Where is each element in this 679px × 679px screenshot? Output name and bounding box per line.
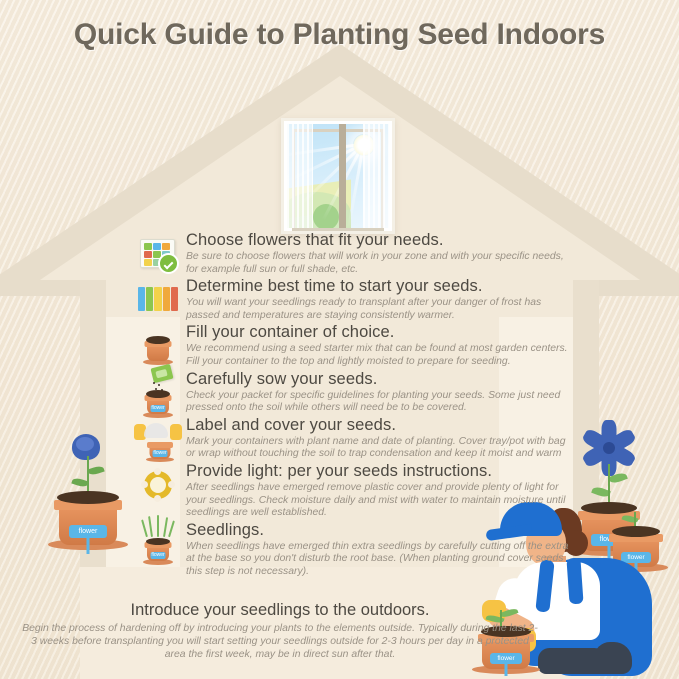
seed-catalog-icon bbox=[136, 233, 180, 277]
sun-icon bbox=[353, 134, 375, 156]
seed-packet-icon bbox=[150, 363, 173, 382]
window-grass-hill bbox=[287, 192, 351, 228]
step-body: We recommend using a seed starter mix th… bbox=[186, 343, 576, 368]
pot-body bbox=[59, 507, 117, 545]
step-body: Mark your containers with plant name and… bbox=[186, 436, 576, 461]
sun-ray-icon bbox=[322, 143, 365, 220]
sun-ray-icon bbox=[287, 143, 364, 158]
seedling-sprout bbox=[634, 512, 636, 530]
pot-body bbox=[582, 517, 636, 551]
potted-blue-flower-left: flower bbox=[42, 418, 134, 550]
window-frame bbox=[292, 129, 384, 231]
flower-bloom-icon bbox=[581, 424, 637, 472]
gloves-covered-pot-icon: flower bbox=[134, 418, 182, 462]
step-heading: Label and cover your seeds. bbox=[186, 416, 576, 435]
outro-body: Begin the process of hardening off by in… bbox=[20, 622, 540, 661]
check-badge-icon bbox=[158, 253, 179, 274]
pot-soil bbox=[581, 502, 637, 514]
step-heading: Fill your container of choice. bbox=[186, 323, 576, 342]
stem bbox=[87, 456, 89, 498]
step-item: flower Label and cover your seeds. Mark … bbox=[136, 416, 576, 461]
pot-soil bbox=[612, 526, 660, 537]
step-heading: Seedlings. bbox=[186, 521, 576, 540]
leaf-icon bbox=[71, 477, 88, 489]
window-field bbox=[287, 180, 351, 219]
step-heading: Choose flowers that fit your needs. bbox=[186, 231, 576, 250]
pot-rim bbox=[54, 500, 122, 510]
pot-saucer bbox=[472, 665, 540, 674]
leaf-icon bbox=[621, 514, 638, 525]
outro-section: Introduce your seedlings to the outdoors… bbox=[20, 600, 540, 661]
pot-soil bbox=[57, 491, 119, 504]
sun-ray-icon bbox=[287, 143, 364, 183]
leaf-icon bbox=[591, 485, 611, 499]
stem bbox=[608, 464, 610, 508]
step-body: Be sure to choose flowers that will work… bbox=[186, 251, 576, 276]
leaf-icon bbox=[608, 471, 628, 485]
plant-label-tag: flower bbox=[153, 450, 168, 457]
plant-label-tag: flower bbox=[151, 552, 166, 559]
page-title: Quick Guide to Planting Seed Indoors bbox=[0, 18, 679, 52]
curtain-right bbox=[363, 124, 389, 228]
light-ring-icon bbox=[136, 464, 180, 508]
wall-shadow-right bbox=[573, 280, 599, 679]
seedling-blades-icon bbox=[144, 515, 172, 537]
window-mullion bbox=[339, 124, 346, 228]
plant-label-tag: flower bbox=[621, 552, 651, 563]
step-body: After seedlings have emerged remove plas… bbox=[186, 482, 576, 520]
background-seedling-pot: flower bbox=[598, 508, 674, 572]
outro-heading: Introduce your seedlings to the outdoors… bbox=[20, 600, 540, 620]
pot-saucer bbox=[604, 563, 668, 572]
step-heading: Carefully sow your seeds. bbox=[186, 370, 576, 389]
step-heading: Provide light: per your seeds instructio… bbox=[186, 462, 576, 481]
steps-list: Choose flowers that fit your needs. Be s… bbox=[136, 231, 576, 580]
infographic-poster: Quick Guide to Planting Seed Indoors flo… bbox=[0, 0, 679, 679]
pot-rim bbox=[578, 511, 640, 520]
plant-label-tag: flower bbox=[151, 405, 166, 412]
pot-saucer bbox=[573, 546, 645, 556]
seedling-pot-icon: flower bbox=[136, 515, 180, 565]
leaf-icon bbox=[87, 465, 104, 477]
step-body: Check your packet for specific guideline… bbox=[186, 390, 576, 415]
gardener-boot bbox=[594, 642, 632, 674]
calendar-icon bbox=[136, 279, 180, 323]
sun-ray-icon bbox=[347, 144, 365, 228]
step-heading: Determine best time to start your seeds. bbox=[186, 277, 576, 296]
step-body: You will want your seedlings ready to tr… bbox=[186, 297, 576, 322]
step-body: When seedlings have emerged thin extra s… bbox=[186, 541, 576, 579]
step-item: Determine best time to start your seeds.… bbox=[136, 277, 576, 322]
flower-bloom-icon bbox=[72, 434, 100, 460]
curtain-left bbox=[287, 124, 313, 228]
pot-saucer bbox=[48, 539, 128, 550]
step-item: Fill your container of choice. We recomm… bbox=[136, 323, 576, 368]
sunny-window-illustration bbox=[281, 118, 395, 234]
gardener-boot bbox=[538, 648, 612, 674]
step-item: flower Seedlings. When seedlings have em… bbox=[136, 521, 576, 579]
filled-pot-icon bbox=[136, 325, 180, 369]
step-item: Provide light: per your seeds instructio… bbox=[136, 462, 576, 520]
pot-rim bbox=[609, 534, 663, 542]
window-sky bbox=[287, 124, 389, 228]
seed-packet-sowing-icon: flower bbox=[136, 366, 180, 418]
pot-body bbox=[613, 539, 659, 567]
step-item: Choose flowers that fit your needs. Be s… bbox=[136, 231, 576, 276]
sun-ray-icon bbox=[301, 143, 365, 205]
step-item: flower Carefully sow your seeds. Check y… bbox=[136, 370, 576, 415]
window-bush bbox=[313, 204, 339, 228]
plant-label-tag: flower bbox=[69, 525, 107, 538]
plant-label-tag: flower bbox=[591, 534, 627, 546]
